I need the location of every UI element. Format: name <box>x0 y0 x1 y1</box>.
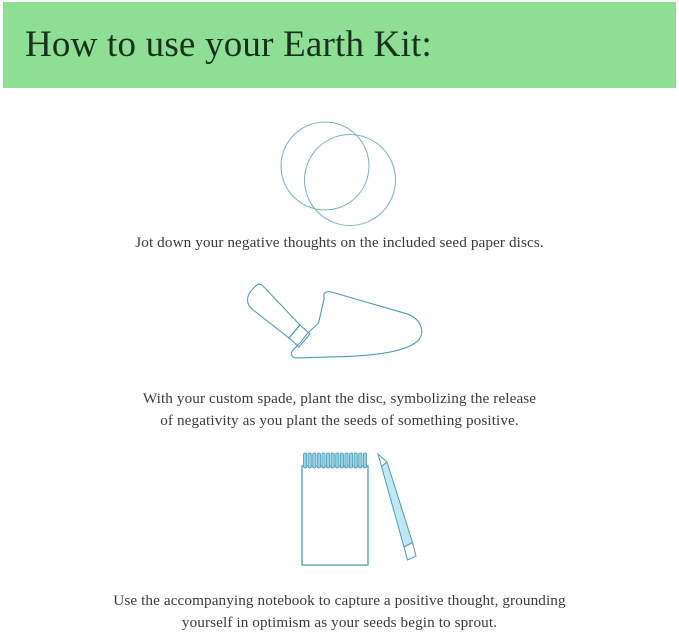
step-2-caption: With your custom spade, plant the disc, … <box>105 388 575 432</box>
step-2: With your custom spade, plant the disc, … <box>0 268 679 432</box>
spiral-notebook-icon <box>302 453 368 565</box>
step-1: Jot down your negative thoughts on the i… <box>0 104 679 254</box>
step-3: Use the accompanying notebook to capture… <box>0 448 679 634</box>
step-1-caption-line-1: Jot down your negative thoughts on the i… <box>60 232 620 254</box>
step-1-caption: Jot down your negative thoughts on the i… <box>60 232 620 254</box>
step-3-caption-line-1: Use the accompanying notebook to capture… <box>80 590 600 612</box>
step-2-caption-line-2: of negativity as you plant the seeds of … <box>105 410 575 432</box>
step-3-illustration <box>0 448 679 578</box>
garden-spade-icon <box>248 284 425 371</box>
pencil-icon <box>378 454 416 560</box>
seed-paper-discs-icon <box>281 122 396 226</box>
step-3-caption-line-2: yourself in optimism as your seeds begin… <box>80 612 600 634</box>
step-1-illustration <box>0 104 679 224</box>
header-banner: How to use your Earth Kit: <box>3 2 676 88</box>
step-3-caption: Use the accompanying notebook to capture… <box>80 590 600 634</box>
page-title: How to use your Earth Kit: <box>25 26 432 65</box>
instruction-card: How to use your Earth Kit: Jot down your… <box>0 0 679 635</box>
step-2-caption-line-1: With your custom spade, plant the disc, … <box>105 388 575 410</box>
step-2-illustration <box>0 268 679 376</box>
